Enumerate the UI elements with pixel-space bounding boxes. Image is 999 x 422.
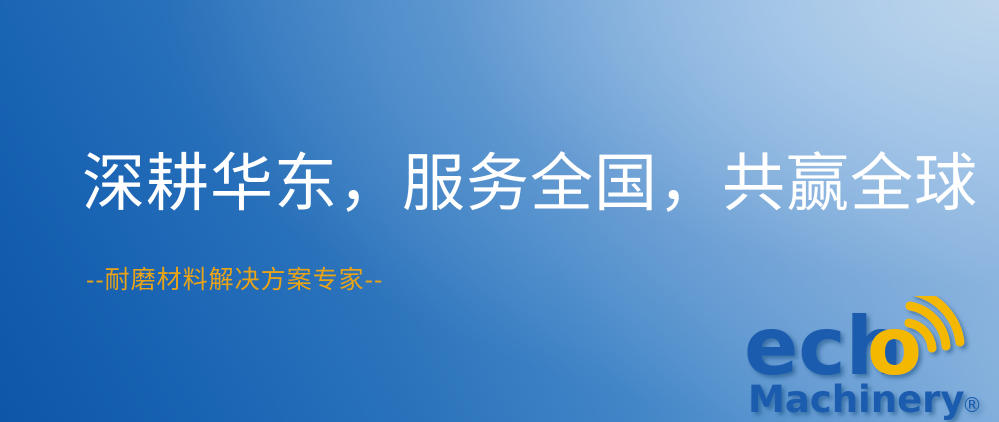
page-title: 深耕华东，服务全国，共赢全球 [82, 148, 978, 220]
logo-tagline-group: Machinery ® [748, 378, 982, 421]
logo-trademark-symbol: ® [962, 393, 982, 417]
promo-banner: 深耕华东，服务全国，共赢全球 --耐磨材料解决方案专家-- ech o Mach… [0, 0, 999, 422]
banner-subtitle: --耐磨材料解决方案专家-- [86, 265, 383, 295]
company-logo[interactable]: ech o Machinery ® [744, 296, 999, 422]
logo-tagline: Machinery [748, 378, 965, 421]
